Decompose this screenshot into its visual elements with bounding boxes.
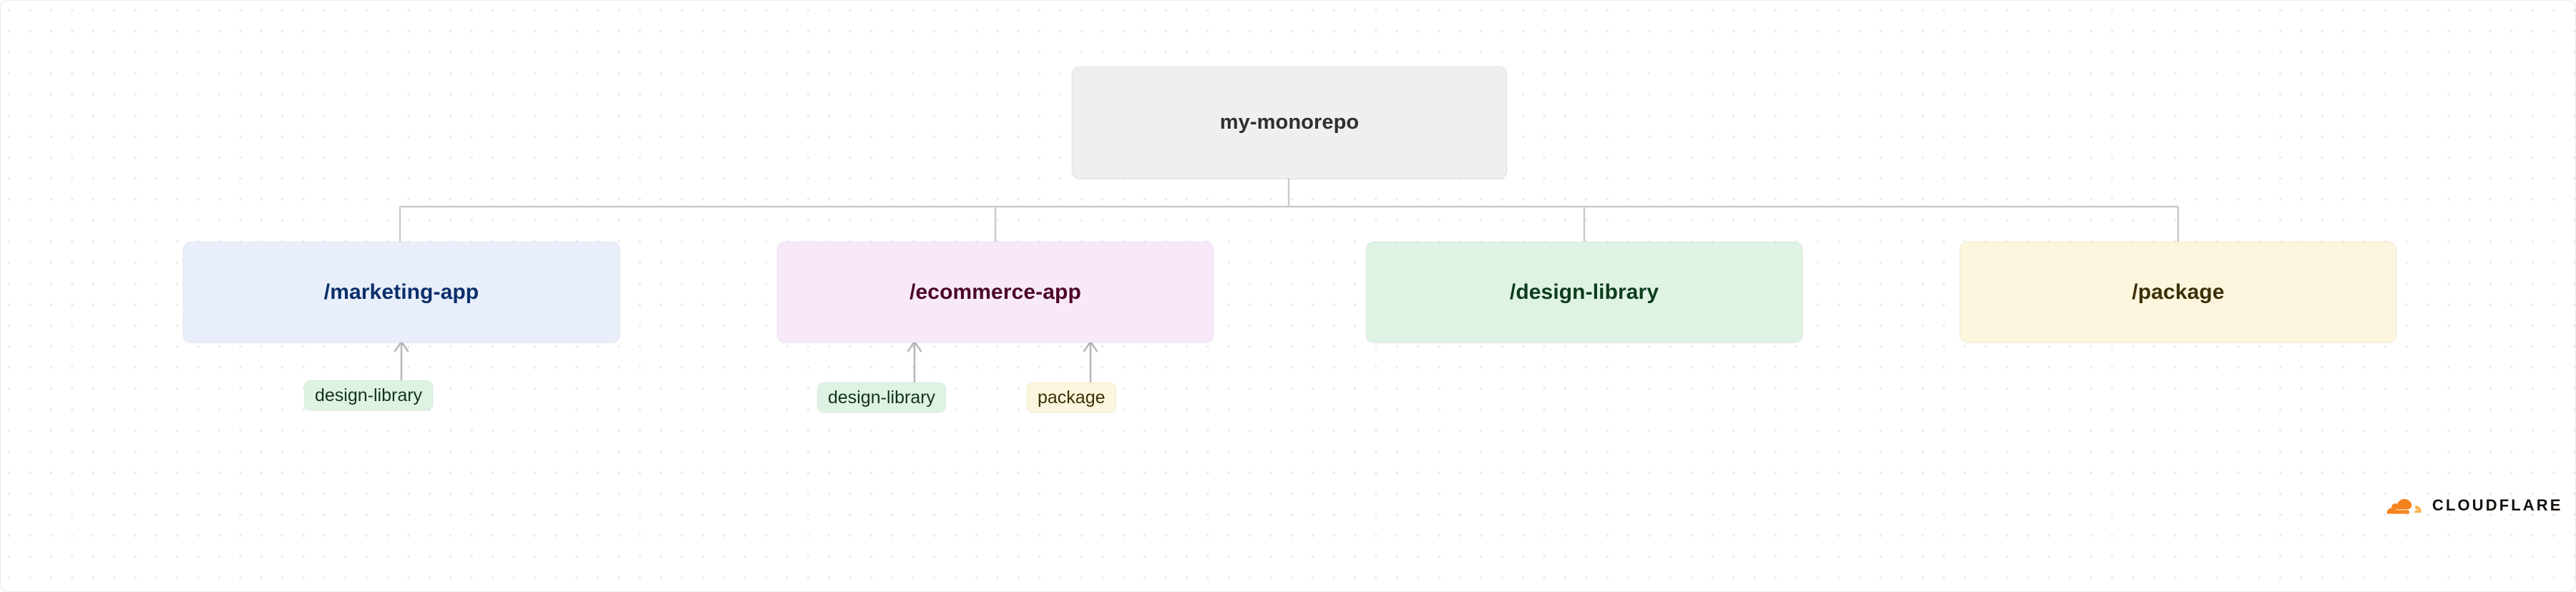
tag-ecommerce-package-label: package [1038,388,1106,408]
tag-marketing-design-library[interactable]: design-library [304,380,433,410]
cloudflare-logo: CLOUDFLARE [2370,493,2563,518]
node-design-library[interactable]: /design-library [1366,242,1802,342]
node-marketing-app[interactable]: /marketing-app [183,242,620,342]
node-package-label: /package [2132,280,2224,305]
node-marketing-app-label: /marketing-app [324,280,479,305]
cloudflare-wordmark: CLOUDFLARE [2432,496,2563,515]
tag-marketing-design-library-label: design-library [315,385,422,406]
node-my-monorepo-label: my-monorepo [1220,111,1359,134]
node-ecommerce-app-label: /ecommerce-app [909,280,1081,305]
node-my-monorepo[interactable]: my-monorepo [1072,66,1507,179]
tag-ecommerce-design-library[interactable]: design-library [817,383,946,413]
diagram-canvas: my-monorepo /marketing-app /ecommerce-ap… [0,0,2576,592]
node-ecommerce-app[interactable]: /ecommerce-app [777,242,1214,342]
tag-ecommerce-package[interactable]: package [1027,383,1116,413]
tag-ecommerce-design-library-label: design-library [828,388,935,408]
node-package[interactable]: /package [1960,242,2396,342]
node-design-library-label: /design-library [1510,280,1659,305]
cloudflare-cloud-icon [2370,493,2424,518]
